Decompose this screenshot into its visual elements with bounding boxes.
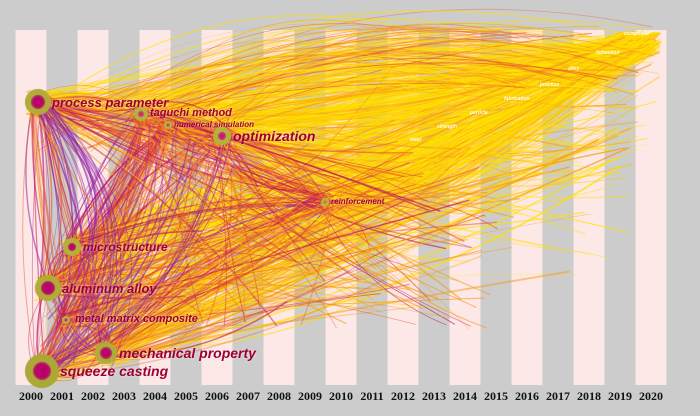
faint-label-2: alloy (568, 66, 579, 72)
node-label-reinforcement: reinforcement (331, 197, 384, 206)
faint-label-1: behaviour (596, 50, 620, 56)
node-ring (221, 135, 223, 137)
year-tick-2003: 2003 (112, 385, 136, 407)
faint-label-4: fabrication (504, 96, 530, 102)
faint-label-0: composite (624, 31, 649, 37)
year-tick-2016: 2016 (515, 385, 539, 407)
node-ring (71, 246, 73, 248)
faint-label-5: particle (470, 110, 488, 116)
node-ring (167, 124, 169, 126)
year-tick-2001: 2001 (50, 385, 74, 407)
year-tick-2000: 2000 (19, 385, 43, 407)
node-label-mechanical-property: mechanical property (119, 345, 256, 361)
year-axis: 2000200120022003200420052006200720082009… (0, 385, 700, 416)
network-graph (0, 0, 700, 416)
year-tick-2017: 2017 (546, 385, 570, 407)
faint-label-3: process (540, 82, 559, 88)
node-aluminum-alloy[interactable] (35, 275, 61, 301)
year-tick-2007: 2007 (236, 385, 260, 407)
year-tick-2012: 2012 (391, 385, 415, 407)
node-ring (140, 113, 142, 115)
node-numerical-simulation[interactable] (164, 121, 172, 129)
faint-label-7: wear (410, 137, 421, 143)
node-metal-matrix-composite[interactable] (62, 316, 70, 324)
node-ring (47, 287, 49, 289)
year-tick-2019: 2019 (608, 385, 632, 407)
year-tick-2004: 2004 (143, 385, 167, 407)
node-label-microstructure: microstructure (83, 240, 168, 254)
year-tick-2018: 2018 (577, 385, 601, 407)
node-ring (65, 319, 67, 321)
timeline-network-visualization: compositebehaviouralloyprocessfabricatio… (0, 0, 700, 416)
node-ring (41, 370, 43, 372)
year-tick-2020: 2020 (639, 385, 663, 407)
year-tick-2010: 2010 (329, 385, 353, 407)
node-optimization[interactable] (213, 127, 231, 145)
node-label-optimization: optimization (233, 128, 315, 144)
faint-label-6: strength (437, 124, 457, 130)
year-tick-2005: 2005 (174, 385, 198, 407)
node-label-metal-matrix-composite: metal matrix composite (75, 313, 198, 325)
year-tick-2011: 2011 (360, 385, 383, 407)
node-label-aluminum-alloy: aluminum alloy (62, 281, 157, 296)
year-tick-2002: 2002 (81, 385, 105, 407)
node-ring (105, 352, 107, 354)
node-microstructure[interactable] (63, 238, 81, 256)
node-squeeze-casting[interactable] (25, 354, 59, 388)
node-label-squeeze-casting: squeeze casting (60, 363, 168, 379)
node-process-parameter[interactable] (25, 89, 51, 115)
node-ring (324, 201, 326, 203)
node-reinforcement[interactable] (321, 198, 329, 206)
node-ring (37, 101, 39, 103)
year-tick-2014: 2014 (453, 385, 477, 407)
year-tick-2009: 2009 (298, 385, 322, 407)
node-label-taguchi-method: taguchi method (150, 107, 232, 119)
year-tick-2013: 2013 (422, 385, 446, 407)
year-tick-2008: 2008 (267, 385, 291, 407)
node-mechanical-property[interactable] (95, 342, 117, 364)
year-tick-2015: 2015 (484, 385, 508, 407)
year-tick-2006: 2006 (205, 385, 229, 407)
